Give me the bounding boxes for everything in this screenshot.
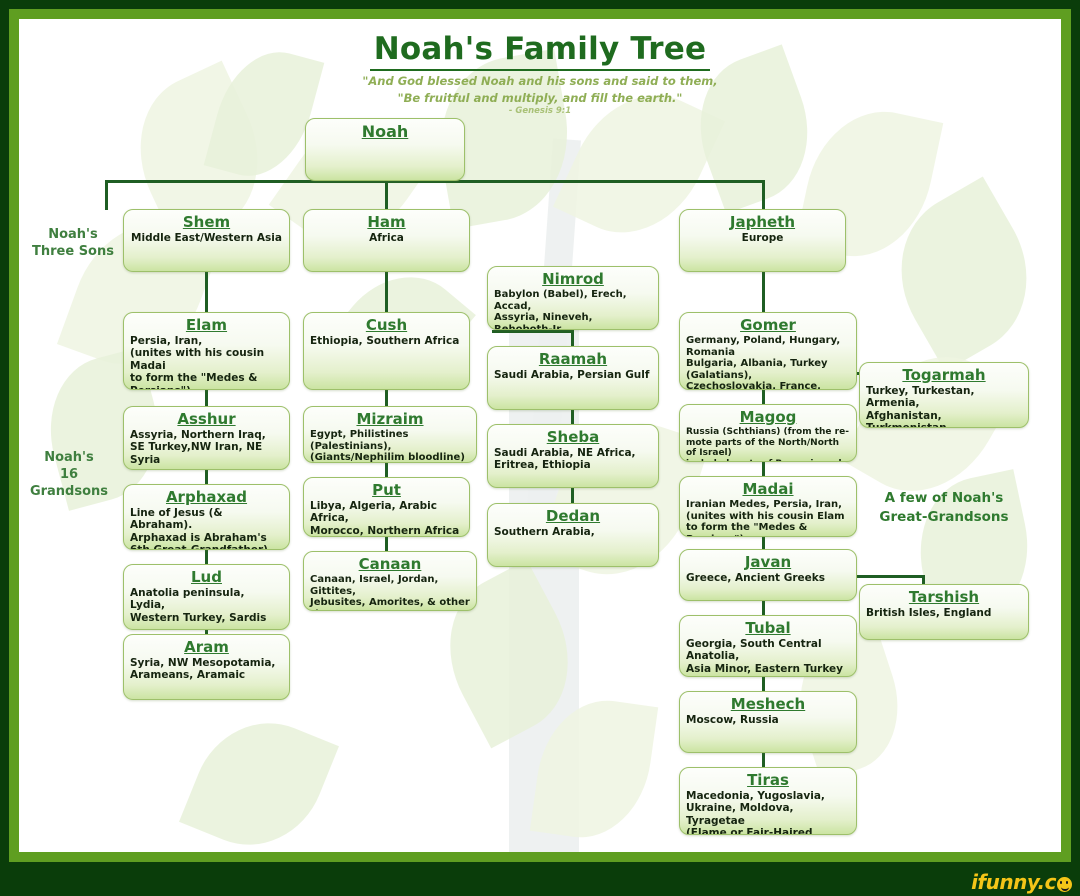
node-raamah-name: Raamah <box>494 351 652 368</box>
connector-arphaxad-lud <box>205 550 208 564</box>
label-grandsons-line1: Noah's <box>19 449 119 466</box>
connector-cush-mizraim <box>385 390 388 406</box>
node-shem[interactable]: Shem Middle East/Western Asia <box>123 209 290 272</box>
family-tree-canvas: Noah's Family Tree "And God blessed Noah… <box>19 19 1061 852</box>
node-lud[interactable]: Lud Anatolia peninsula, Lydia,Western Tu… <box>123 564 290 630</box>
node-tarshish[interactable]: Tarshish British Isles, England <box>859 584 1029 640</box>
node-elam-desc: Persia, Iran,(unites with his cousin Mad… <box>130 335 283 390</box>
node-raamah-desc: Saudi Arabia, Persian Gulf <box>494 369 652 381</box>
quote-line-2: "Be fruitful and multiply, and fill the … <box>19 91 1061 105</box>
node-meshech[interactable]: Meshech Moscow, Russia <box>679 691 857 753</box>
connector-cush-to-nimrod-bus <box>492 330 574 333</box>
node-japheth-name: Japheth <box>686 214 839 231</box>
node-shem-name: Shem <box>130 214 283 231</box>
node-gomer[interactable]: Gomer Germany, Poland, Hungary, RomaniaB… <box>679 312 857 390</box>
label-three-sons-line2: Three Sons <box>27 243 119 260</box>
node-mizraim-name: Mizraim <box>310 411 470 428</box>
connector-javan-tubal <box>762 601 765 615</box>
node-nimrod-desc: Babylon (Babel), Erech, Accad,Assyria, N… <box>494 289 652 330</box>
node-togarmah[interactable]: Togarmah Turkey, Turkestan, Armenia,Afgh… <box>859 362 1029 428</box>
node-nimrod-name: Nimrod <box>494 271 652 288</box>
node-asshur[interactable]: Asshur Assyria, Northern Iraq,SE Turkey,… <box>123 406 290 470</box>
node-meshech-desc: Moscow, Russia <box>686 714 850 726</box>
node-sheba-name: Sheba <box>494 429 652 446</box>
node-japheth-desc: Europe <box>686 232 839 244</box>
node-ham[interactable]: Ham Africa <box>303 209 470 272</box>
node-ham-desc: Africa <box>310 232 463 244</box>
node-lud-desc: Anatolia peninsula, Lydia,Western Turkey… <box>130 587 283 624</box>
node-madai-desc: Iranian Medes, Persia, Iran,(unites with… <box>686 499 850 537</box>
node-tubal-desc: Georgia, South Central Anatolia,Asia Min… <box>686 638 850 675</box>
node-canaan-name: Canaan <box>310 556 470 573</box>
node-tubal-name: Tubal <box>686 620 850 637</box>
node-sheba[interactable]: Sheba Saudi Arabia, NE Africa,Eritrea, E… <box>487 424 659 488</box>
node-aram[interactable]: Aram Syria, NW Mesopotamia,Arameans, Ara… <box>123 634 290 700</box>
node-dedan[interactable]: Dedan Southern Arabia, <box>487 503 659 567</box>
ifunny-text: ifunny.c <box>971 870 1056 894</box>
node-tarshish-desc: British Isles, England <box>866 607 1022 619</box>
node-asshur-name: Asshur <box>130 411 283 428</box>
node-put-name: Put <box>310 482 463 499</box>
connector-to-ham <box>385 180 388 210</box>
connector-elam-asshur <box>205 390 208 406</box>
node-togarmah-desc: Turkey, Turkestan, Armenia,Afghanistan, … <box>866 385 1022 428</box>
node-tubal[interactable]: Tubal Georgia, South Central Anatolia,As… <box>679 615 857 677</box>
node-mizraim[interactable]: Mizraim Egypt, Philistines (Palestinians… <box>303 406 477 463</box>
label-great-grandsons-line2: Great-Grandsons <box>859 508 1029 527</box>
label-three-sons-line1: Noah's <box>27 226 119 243</box>
node-ham-name: Ham <box>310 214 463 231</box>
node-javan[interactable]: Javan Greece, Ancient Greeks <box>679 549 857 601</box>
node-cush-name: Cush <box>310 317 463 334</box>
node-lud-name: Lud <box>130 569 283 586</box>
node-noah[interactable]: Noah <box>305 118 465 181</box>
node-canaan[interactable]: Canaan Canaan, Israel, Jordan, Gittites,… <box>303 551 477 611</box>
label-three-sons: Noah's Three Sons <box>27 226 119 260</box>
node-aram-name: Aram <box>130 639 283 656</box>
node-cush-desc: Ethiopia, Southern Africa <box>310 335 463 347</box>
node-javan-name: Javan <box>686 554 850 571</box>
connector-tubal-meshech <box>762 677 765 691</box>
page-title: Noah's Family Tree <box>370 31 710 71</box>
node-canaan-desc: Canaan, Israel, Jordan, Gittites,Jebusit… <box>310 574 470 611</box>
connector-javan-to-tarshish <box>852 575 924 578</box>
node-madai-name: Madai <box>686 481 850 498</box>
node-sheba-desc: Saudi Arabia, NE Africa,Eritrea, Ethiopi… <box>494 447 652 472</box>
node-dedan-name: Dedan <box>494 508 652 525</box>
node-javan-desc: Greece, Ancient Greeks <box>686 572 850 584</box>
node-shem-desc: Middle East/Western Asia <box>130 232 283 244</box>
smiley-icon <box>1057 877 1072 892</box>
node-tiras-desc: Macedonia, Yugoslavia,Ukraine, Moldova, … <box>686 790 850 835</box>
node-madai[interactable]: Madai Iranian Medes, Persia, Iran,(unite… <box>679 476 857 537</box>
label-16-grandsons: Noah's 16 Grandsons <box>19 449 119 500</box>
ifunny-watermark: ifunny.c <box>971 870 1072 894</box>
quote-line-1: "And God blessed Noah and his sons and s… <box>19 74 1061 88</box>
node-asshur-desc: Assyria, Northern Iraq,SE Turkey,NW Iran… <box>130 429 283 466</box>
node-gomer-desc: Germany, Poland, Hungary, RomaniaBulgari… <box>686 335 850 390</box>
quote-source: - Genesis 9:1 <box>19 106 1061 116</box>
node-mizraim-desc: Egypt, Philistines (Palestinians),(Giant… <box>310 429 470 463</box>
node-arphaxad[interactable]: Arphaxad Line of Jesus (& Abraham).Arpha… <box>123 484 290 550</box>
connector-magog-madai <box>762 462 765 476</box>
connector-asshur-arphaxad <box>205 470 208 484</box>
node-tiras-name: Tiras <box>686 772 850 789</box>
label-great-grandsons-line1: A few of Noah's <box>859 489 1029 508</box>
node-togarmah-name: Togarmah <box>866 367 1022 384</box>
connector-put-canaan <box>385 537 388 551</box>
node-dedan-desc: Southern Arabia, <box>494 526 652 538</box>
node-tarshish-name: Tarshish <box>866 589 1022 606</box>
node-magog[interactable]: Magog Russia (Schthians) (from the re-mo… <box>679 404 857 462</box>
poster-header: Noah's Family Tree "And God blessed Noah… <box>19 19 1061 116</box>
node-raamah[interactable]: Raamah Saudi Arabia, Persian Gulf <box>487 346 659 410</box>
node-elam-name: Elam <box>130 317 283 334</box>
node-gomer-name: Gomer <box>686 317 850 334</box>
node-magog-desc: Russia (Schthians) (from the re-mote par… <box>686 427 850 462</box>
connector-meshech-tiras <box>762 753 765 767</box>
connector-mizraim-put <box>385 463 388 477</box>
connector-gomer-magog <box>762 390 765 404</box>
node-nimrod[interactable]: Nimrod Babylon (Babel), Erech, Accad,Ass… <box>487 266 659 330</box>
connector-to-shem <box>105 180 108 210</box>
node-magog-name: Magog <box>686 409 850 426</box>
node-noah-name: Noah <box>312 123 458 140</box>
node-elam[interactable]: Elam Persia, Iran,(unites with his cousi… <box>123 312 290 390</box>
node-arphaxad-name: Arphaxad <box>130 489 283 506</box>
label-grandsons-line2: 16 Grandsons <box>19 466 119 500</box>
node-tiras[interactable]: Tiras Macedonia, Yugoslavia,Ukraine, Mol… <box>679 767 857 835</box>
node-meshech-name: Meshech <box>686 696 850 713</box>
node-japheth[interactable]: Japheth Europe <box>679 209 846 272</box>
label-great-grandsons: A few of Noah's Great-Grandsons <box>859 489 1029 527</box>
node-cush[interactable]: Cush Ethiopia, Southern Africa <box>303 312 470 390</box>
node-put[interactable]: Put Libya, Algeria, Arabic Africa,Morocc… <box>303 477 470 537</box>
node-put-desc: Libya, Algeria, Arabic Africa,Morocco, N… <box>310 500 463 537</box>
connector-to-japheth <box>762 180 765 210</box>
node-arphaxad-desc: Line of Jesus (& Abraham).Arphaxad is Ab… <box>130 507 283 550</box>
node-aram-desc: Syria, NW Mesopotamia,Arameans, Aramaic <box>130 657 283 682</box>
connector-madai-javan <box>762 537 765 549</box>
